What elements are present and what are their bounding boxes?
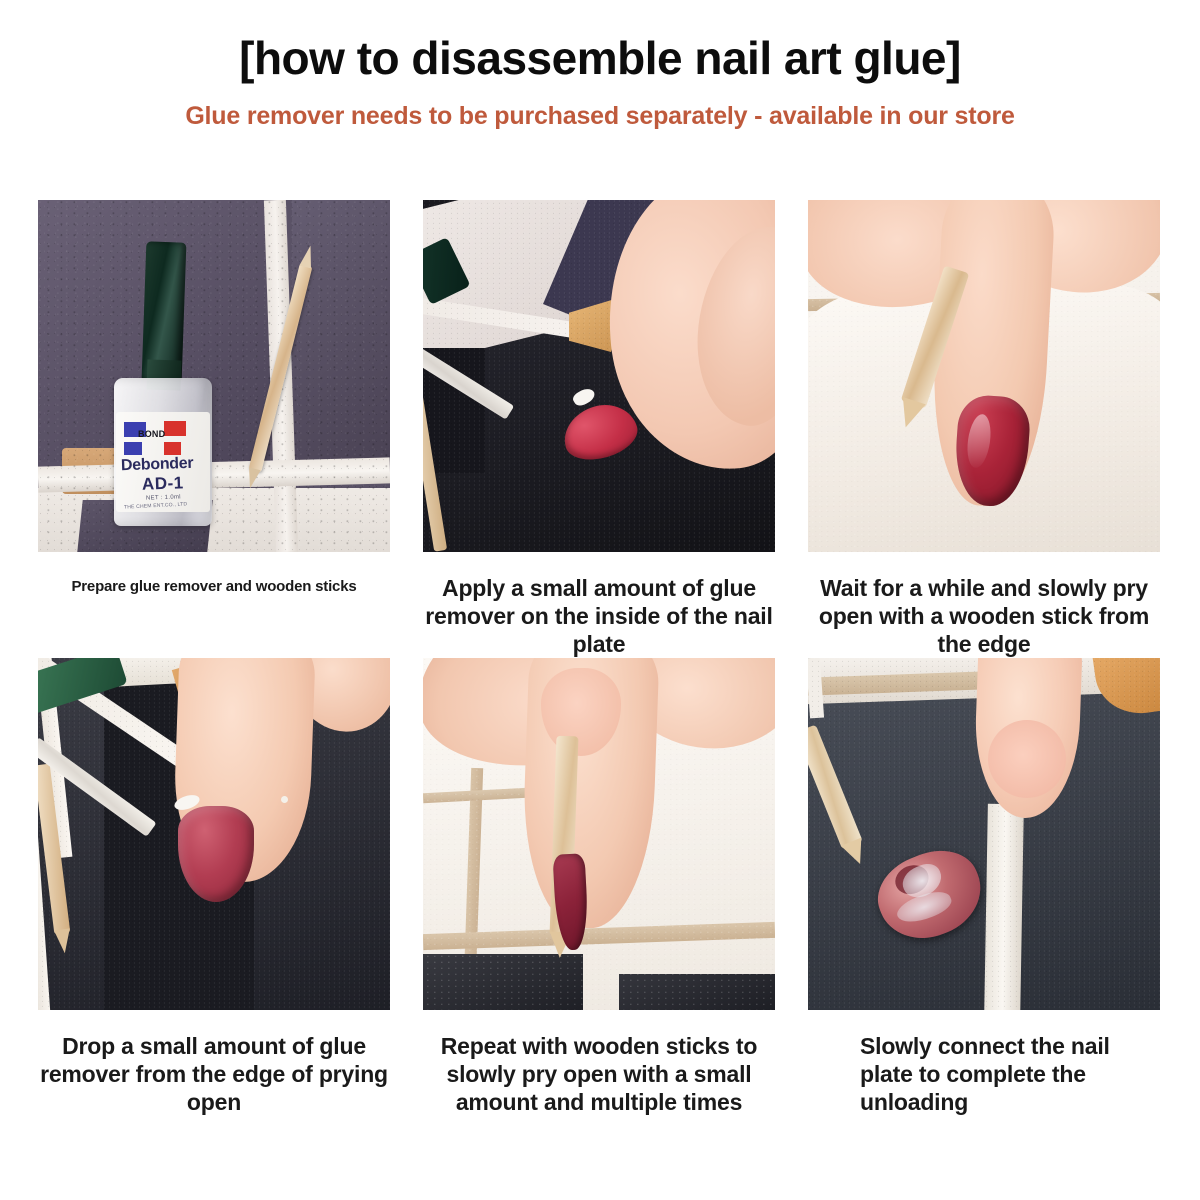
label-red-block-2 bbox=[164, 442, 181, 455]
fingertip bbox=[988, 720, 1066, 798]
step-card-5: Repeat with wooden sticks to slowly pry … bbox=[423, 658, 775, 1116]
photo-dropping-remover-at-edge bbox=[38, 658, 390, 1010]
step-caption-3: Wait for a while and slowly pry open wit… bbox=[808, 574, 1160, 658]
photo-removed-nail-plate bbox=[808, 658, 1160, 1010]
photo-applying-remover-to-nail bbox=[423, 200, 775, 552]
mat-panel-right bbox=[292, 200, 390, 462]
label-red-block-1 bbox=[164, 421, 186, 436]
step-caption-4: Drop a small amount of glue remover from… bbox=[38, 1032, 390, 1116]
label-blue-block-2 bbox=[124, 442, 142, 455]
bottle-label: BOND Debonder AD-1 NET : 1.0ml THE CHEM … bbox=[116, 412, 210, 512]
step-card-1: BOND Debonder AD-1 NET : 1.0ml THE CHEM … bbox=[38, 200, 390, 658]
instruction-poster: [how to disassemble nail art glue] Glue … bbox=[0, 0, 1200, 1200]
poster-header: [how to disassemble nail art glue] Glue … bbox=[0, 0, 1200, 131]
step-caption-2: Apply a small amount of glue remover on … bbox=[423, 574, 775, 658]
step-card-3: Wait for a while and slowly pry open wit… bbox=[808, 200, 1160, 658]
steps-grid: BOND Debonder AD-1 NET : 1.0ml THE CHEM … bbox=[38, 200, 1162, 1116]
mat-dark-block-right bbox=[619, 974, 775, 1010]
step-card-4: Drop a small amount of glue remover from… bbox=[38, 658, 390, 1116]
photo-prying-nail-with-wooden-stick bbox=[808, 200, 1160, 552]
label-product-text: Debonder bbox=[121, 455, 194, 476]
step-caption-6: Slowly connect the nail plate to complet… bbox=[808, 1032, 1160, 1116]
step-card-2: Apply a small amount of glue remover on … bbox=[423, 200, 775, 658]
label-code-text: AD-1 bbox=[142, 473, 184, 494]
label-net-text: NET : 1.0ml bbox=[146, 494, 181, 501]
photo-repeat-prying-with-stick bbox=[423, 658, 775, 1010]
step-caption-5: Repeat with wooden sticks to slowly pry … bbox=[423, 1032, 775, 1116]
steps-row-top: BOND Debonder AD-1 NET : 1.0ml THE CHEM … bbox=[38, 200, 1162, 658]
photo-glue-remover-bottle-and-sticks: BOND Debonder AD-1 NET : 1.0ml THE CHEM … bbox=[38, 200, 390, 552]
label-company-text: THE CHEM ENT.CO., LTD bbox=[124, 501, 188, 510]
mat-white-stripe bbox=[984, 804, 1024, 1010]
steps-row-bottom: Drop a small amount of glue remover from… bbox=[38, 658, 1162, 1116]
mat-dark-block-left bbox=[423, 954, 583, 1010]
step-card-6: Slowly connect the nail plate to complet… bbox=[808, 658, 1160, 1116]
step-caption-1: Prepare glue remover and wooden sticks bbox=[38, 578, 390, 596]
page-subtitle: Glue remover needs to be purchased separ… bbox=[0, 102, 1200, 131]
label-brand-text: BOND bbox=[138, 429, 165, 439]
page-title: [how to disassemble nail art glue] bbox=[0, 34, 1200, 82]
